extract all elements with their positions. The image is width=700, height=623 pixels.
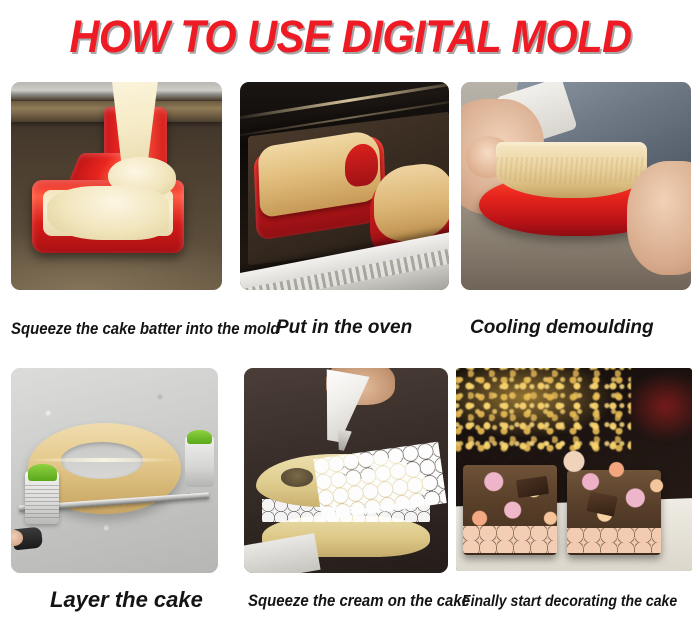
page-header: HOW TO USE DIGITAL MOLD (0, 6, 700, 68)
step-5-image-card (244, 368, 448, 573)
step-3-cooling-demoulding-photo (461, 82, 691, 290)
step-5-caption: Squeeze the cream on the cake (248, 592, 470, 609)
step-2-caption: Put in the oven (276, 318, 412, 337)
leveler-height-notches (25, 485, 58, 520)
right-hand (627, 161, 691, 275)
step-3-caption: Cooling demoulding (470, 318, 654, 337)
step-6-decorated-cake-photo (456, 368, 692, 571)
step-2-image-card (240, 82, 449, 290)
flower-and-fruit-decorations (456, 368, 692, 571)
batter-pool (47, 186, 169, 240)
step-4-layering-cake-photo (11, 368, 218, 573)
step-4-image-card (11, 368, 218, 573)
step-6-caption: Finally start decorating the cake (462, 594, 677, 610)
cake-crumb-texture (496, 157, 648, 184)
cake-hole-left (281, 468, 314, 486)
step-1-image-card (11, 82, 222, 290)
leveler-knob-left (28, 464, 57, 480)
step-1-pouring-batter-photo (11, 82, 222, 290)
step-6-image-card (456, 368, 692, 571)
step-5-piping-cream-photo (244, 368, 448, 573)
step-3-image-card (461, 82, 691, 290)
step-2-baking-in-oven-photo (240, 82, 449, 290)
page-title: HOW TO USE DIGITAL MOLD (69, 12, 631, 62)
step-4-caption: Layer the cake (50, 589, 203, 611)
leveler-knob-right (187, 430, 212, 444)
step-1-caption: Squeeze the cake batter into the mold (11, 320, 280, 337)
